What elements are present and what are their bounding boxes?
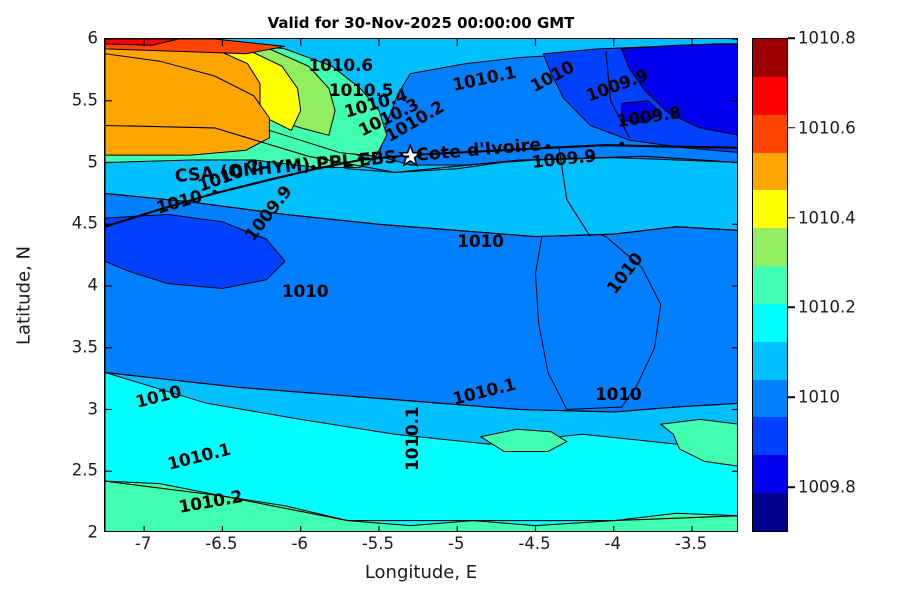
- colorbar-tickmark: [788, 397, 795, 399]
- y-axis-label: Latitude, N: [14, 49, 35, 543]
- colorbar-band: [753, 417, 787, 455]
- colorbar-tick-label: 1010.8: [798, 29, 856, 48]
- y-tick-label: 2.5: [52, 461, 98, 480]
- page-title: Valid for 30-Nov-2025 00:00:00 GMT: [104, 14, 738, 32]
- colorbar-band: [753, 455, 787, 493]
- figure-root: Valid for 30-Nov-2025 00:00:00 GMT 1010.…: [0, 0, 900, 600]
- colorbar-band: [753, 153, 787, 191]
- contour-label: 1010: [457, 232, 504, 252]
- y-axis-ticks: 22.533.544.555.56: [46, 38, 98, 532]
- colorbar-band: [753, 266, 787, 304]
- colorbar-band: [753, 493, 787, 531]
- contour-label: 1010: [595, 385, 642, 405]
- colorbar-band: [753, 304, 787, 342]
- x-tick-label: -4.5: [499, 534, 569, 553]
- colorbar-band: [753, 77, 787, 115]
- x-tick-label: -5: [421, 534, 491, 553]
- colorbar-tick-label: 1010.4: [798, 208, 856, 227]
- colorbar-band: [753, 342, 787, 380]
- x-tick-label: -5.5: [343, 534, 413, 553]
- x-axis-ticks: -7-6.5-6-5.5-5-4.5-4-3.5: [104, 534, 738, 564]
- colorbar-band: [753, 228, 787, 266]
- colorbar-tick-label: 1010.2: [798, 298, 856, 317]
- colorbar-band: [753, 115, 787, 153]
- colorbar-tick-label: 1010: [798, 388, 840, 407]
- colorbar-tickmark: [788, 486, 795, 488]
- y-tick-label: 3.5: [52, 337, 98, 356]
- colorbar-tick-label: 1009.8: [798, 478, 856, 497]
- x-axis-label: Longitude, E: [104, 562, 738, 583]
- colorbar-band: [753, 190, 787, 228]
- contour-label: 1010: [282, 282, 329, 302]
- colorbar-ticks: 1009.810101010.21010.41010.61010.8: [788, 38, 898, 532]
- colorbar-tick-label: 1010.6: [798, 118, 856, 137]
- colorbar[interactable]: [752, 38, 788, 532]
- y-tick-label: 6: [52, 29, 98, 48]
- y-tick-label: 4.5: [52, 214, 98, 233]
- y-tick-label: 5: [52, 152, 98, 171]
- colorbar-band: [753, 380, 787, 418]
- x-tick-label: -7: [108, 534, 178, 553]
- x-tick-label: -4: [578, 534, 648, 553]
- y-tick-label: 2: [52, 523, 98, 542]
- y-tick-label: 5.5: [52, 90, 98, 109]
- contour-label: 1010.1: [403, 407, 423, 471]
- colorbar-tickmark: [788, 37, 795, 39]
- colorbar-tickmark: [788, 127, 795, 129]
- colorbar-tickmark: [788, 307, 795, 309]
- y-tick-label: 4: [52, 276, 98, 295]
- x-tick-label: -3.5: [656, 534, 726, 553]
- contour-label: 1010.6: [309, 56, 373, 76]
- x-tick-label: -6: [265, 534, 335, 553]
- contour-plot-area[interactable]: 1010.61010.51010.41010.31010.21010.11010…: [104, 38, 738, 532]
- colorbar-band: [753, 39, 787, 77]
- y-tick-label: 3: [52, 399, 98, 418]
- colorbar-tickmark: [788, 217, 795, 219]
- x-tick-label: -6.5: [186, 534, 256, 553]
